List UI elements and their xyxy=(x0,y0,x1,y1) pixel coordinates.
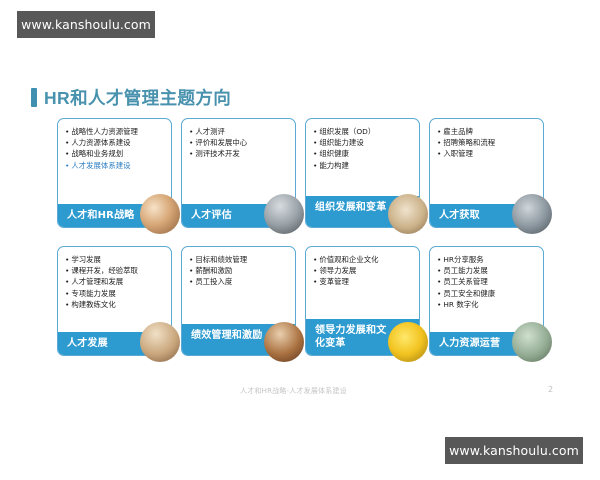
topic-bullet-list: 战略性人力资源管理人力资源体系建设战略和业务规划人才发展体系建设 xyxy=(58,119,171,204)
topic-card[interactable]: HR分享服务员工能力发展员工关系管理员工安全和健康HR 数字化人力资源运营 xyxy=(429,246,544,356)
topic-bullet-item: 战略和业务规划 xyxy=(65,148,171,159)
topic-bullet-item: 组织能力建设 xyxy=(313,137,419,148)
topic-bullet-item: 员工能力发展 xyxy=(437,265,543,276)
topic-card-title: 人才发展 xyxy=(67,337,108,350)
topic-card[interactable]: 组织发展（OD）组织能力建设组织健康能力构建组织发展和变革 xyxy=(305,118,420,228)
topic-bullet-item: 招聘策略和流程 xyxy=(437,137,543,148)
topic-bullet-item: 组织健康 xyxy=(313,148,419,159)
topic-card-title: 人才和HR战略 xyxy=(67,209,134,222)
training-photo xyxy=(140,322,180,362)
topic-card-title: 人才获取 xyxy=(439,209,480,222)
topic-card[interactable]: 战略性人力资源管理人力资源体系建设战略和业务规划人才发展体系建设人才和HR战略 xyxy=(57,118,172,228)
topic-bullet-item: HR分享服务 xyxy=(437,254,543,265)
topic-bullet-item: 人力资源体系建设 xyxy=(65,137,171,148)
topic-bullet-list: 雇主品牌招聘策略和流程入职管理 xyxy=(430,119,543,204)
watermark-bottom-label: www.kanshoulu.com xyxy=(449,443,579,458)
topic-bullet-item: 人才管理和发展 xyxy=(65,276,171,287)
topic-card-title: 人力资源运营 xyxy=(439,337,500,350)
topic-bullet-item: 构建教练文化 xyxy=(65,299,171,310)
topic-bullet-list: 人才测评评价和发展中心测评技术开发 xyxy=(182,119,295,204)
topic-card-title: 领导力发展和文化变革 xyxy=(315,324,390,350)
topic-card[interactable]: 人才测评评价和发展中心测评技术开发人才评估 xyxy=(181,118,296,228)
page-title: HR和人才管理主题方向 xyxy=(31,85,231,110)
topic-bullet-item: 变革管理 xyxy=(313,276,419,287)
card-grid: 战略性人力资源管理人力资源体系建设战略和业务规划人才发展体系建设人才和HR战略人… xyxy=(57,118,544,356)
topic-bullet-list: 学习发展课程开发，经验萃取人才管理和发展专项能力发展构建教练文化 xyxy=(58,247,171,332)
topic-bullet-item: 价值观和企业文化 xyxy=(313,254,419,265)
operations-photo xyxy=(512,322,552,362)
topic-bullet-item: 人才发展体系建设 xyxy=(65,160,171,171)
topic-bullet-item: 员工关系管理 xyxy=(437,276,543,287)
topic-bullet-list: 价值观和企业文化领导力发展变革管理 xyxy=(306,247,419,319)
topic-card-title: 人才评估 xyxy=(191,209,232,222)
topic-bullet-list: 目标和绩效管理薪酬和激励员工投入度 xyxy=(182,247,295,324)
topic-bullet-item: 领导力发展 xyxy=(313,265,419,276)
family-photo xyxy=(140,194,180,234)
topic-card[interactable]: 价值观和企业文化领导力发展变革管理领导力发展和文化变革 xyxy=(305,246,420,356)
card-row-2: 学习发展课程开发，经验萃取人才管理和发展专项能力发展构建教练文化人才发展目标和绩… xyxy=(57,246,544,356)
topic-bullet-list: HR分享服务员工能力发展员工关系管理员工安全和健康HR 数字化 xyxy=(430,247,543,332)
topic-bullet-item: 目标和绩效管理 xyxy=(189,254,295,265)
topic-bullet-item: HR 数字化 xyxy=(437,299,543,310)
page-number: 2 xyxy=(548,385,553,394)
card-row-1: 战略性人力资源管理人力资源体系建设战略和业务规划人才发展体系建设人才和HR战略人… xyxy=(57,118,544,228)
topic-bullet-item: 能力构建 xyxy=(313,160,419,171)
topic-card-title: 绩效管理和激励 xyxy=(191,329,262,342)
sunflower-photo xyxy=(388,322,428,362)
topic-bullet-item: 课程开发，经验萃取 xyxy=(65,265,171,276)
organization-photo xyxy=(388,194,428,234)
topic-bullet-item: 战略性人力资源管理 xyxy=(65,126,171,137)
topic-bullet-item: 测评技术开发 xyxy=(189,148,295,159)
performance-photo xyxy=(264,322,304,362)
topic-bullet-list: 组织发展（OD）组织能力建设组织健康能力构建 xyxy=(306,119,419,196)
recruitment-photo xyxy=(512,194,552,234)
topic-bullet-item: 专项能力发展 xyxy=(65,288,171,299)
topic-card-title: 组织发展和变革 xyxy=(315,201,386,214)
watermark-top-label: www.kanshoulu.com xyxy=(21,17,151,32)
page-title-text: HR和人才管理主题方向 xyxy=(44,85,231,110)
topic-bullet-item: 薪酬和激励 xyxy=(189,265,295,276)
topic-card[interactable]: 目标和绩效管理薪酬和激励员工投入度绩效管理和激励 xyxy=(181,246,296,356)
topic-card[interactable]: 学习发展课程开发，经验萃取人才管理和发展专项能力发展构建教练文化人才发展 xyxy=(57,246,172,356)
watermark-bottom: www.kanshoulu.com xyxy=(445,437,583,464)
title-accent-bar xyxy=(31,88,37,107)
footer-note: 人才和HR战略-人才发展体系建设 xyxy=(240,386,347,396)
topic-bullet-item: 学习发展 xyxy=(65,254,171,265)
topic-bullet-item: 组织发展（OD） xyxy=(313,126,419,137)
topic-bullet-item: 员工投入度 xyxy=(189,276,295,287)
topic-card[interactable]: 雇主品牌招聘策略和流程入职管理人才获取 xyxy=(429,118,544,228)
topic-bullet-item: 入职管理 xyxy=(437,148,543,159)
topic-bullet-item: 评价和发展中心 xyxy=(189,137,295,148)
assessment-photo xyxy=(264,194,304,234)
watermark-top: www.kanshoulu.com xyxy=(17,11,155,38)
topic-bullet-item: 雇主品牌 xyxy=(437,126,543,137)
topic-bullet-item: 员工安全和健康 xyxy=(437,288,543,299)
topic-bullet-item: 人才测评 xyxy=(189,126,295,137)
